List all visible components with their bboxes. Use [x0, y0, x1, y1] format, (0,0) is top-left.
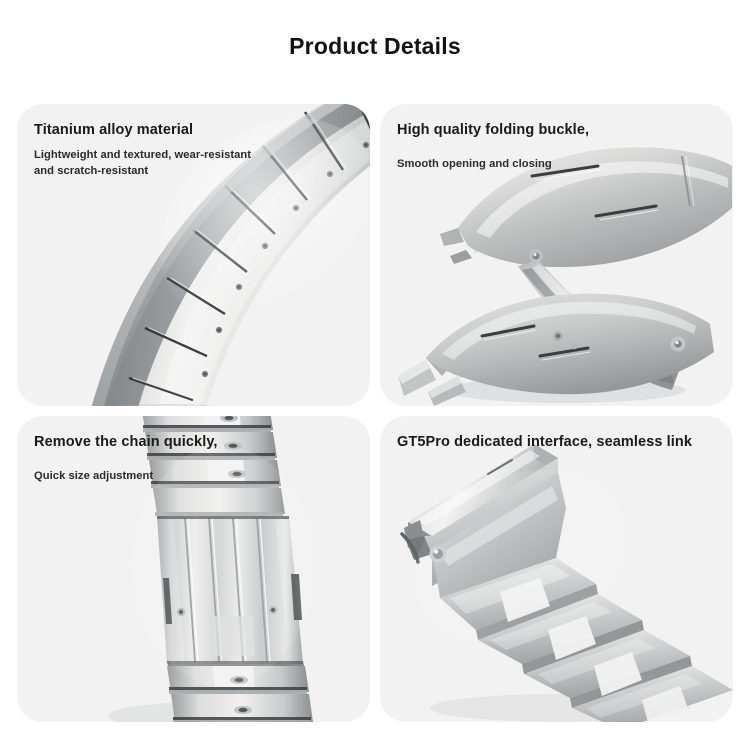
panel-titanium-alloy-text: Titanium alloy material Lightweight and … [34, 121, 259, 179]
panel-remove-chain-heading: Remove the chain quickly, [34, 433, 218, 452]
panel-gt5pro-interface: GT5Pro dedicated interface, seamless lin… [380, 416, 733, 722]
panel-grid: Titanium alloy material Lightweight and … [17, 104, 733, 728]
panel-gt5pro-interface-text: GT5Pro dedicated interface, seamless lin… [397, 433, 692, 452]
panel-titanium-alloy-subtext: Lightweight and textured, wear-resistant… [34, 147, 259, 179]
panel-folding-buckle: High quality folding buckle, Smooth open… [380, 104, 733, 406]
panel-remove-chain-subtext: Quick size adjustment [34, 468, 218, 484]
panel-folding-buckle-subtext: Smooth opening and closing [397, 156, 589, 172]
quick-release-lug-connector-image [380, 416, 733, 722]
panel-folding-buckle-heading: High quality folding buckle, [397, 121, 589, 140]
panel-titanium-alloy: Titanium alloy material Lightweight and … [17, 104, 370, 406]
panel-remove-chain-text: Remove the chain quickly, Quick size adj… [34, 433, 218, 484]
product-details-page: Product Details [0, 0, 750, 750]
panel-gt5pro-interface-heading: GT5Pro dedicated interface, seamless lin… [397, 433, 692, 452]
panel-folding-buckle-text: High quality folding buckle, Smooth open… [397, 121, 589, 172]
panel-remove-chain: Remove the chain quickly, Quick size adj… [17, 416, 370, 722]
panel-titanium-alloy-heading: Titanium alloy material [34, 121, 259, 140]
page-title: Product Details [0, 33, 750, 60]
